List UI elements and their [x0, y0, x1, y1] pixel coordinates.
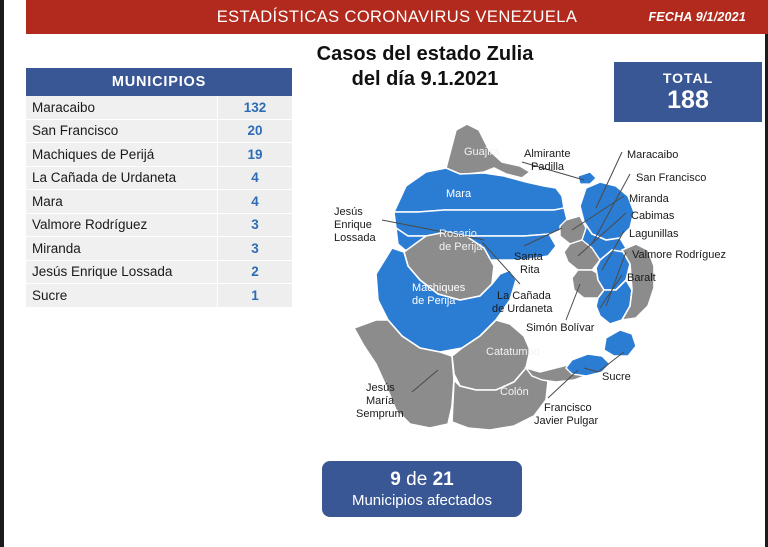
map-callout-label: Padilla — [531, 161, 564, 174]
municipios-table: MUNICIPIOS Maracaibo132San Francisco20Ma… — [26, 68, 292, 308]
municipio-cases: 3 — [218, 237, 292, 260]
table-row: Sucre1 — [26, 284, 292, 308]
map-callout-label: Semprum — [356, 408, 404, 421]
map-region-label: de Perija — [412, 295, 455, 308]
municipio-cases: 1 — [218, 284, 292, 307]
map-callout-label: Rita — [520, 264, 540, 277]
map-region-label: Catatumbo — [486, 346, 540, 359]
poster-root: ESTADÍSTICAS CORONAVIRUS VENEZUELA FECHA… — [0, 0, 768, 547]
zulia-map: GuajiraMaraRosariode PerijaMachiquesde P… — [334, 124, 764, 454]
total-label: TOTAL — [663, 70, 713, 86]
map-callout-label: Maracaibo — [627, 149, 678, 162]
table-row: La Cañada de Urdaneta4 — [26, 167, 292, 191]
municipio-cases: 2 — [218, 261, 292, 284]
municipio-name: Sucre — [26, 284, 218, 307]
municipio-name: San Francisco — [26, 120, 218, 143]
header-date: FECHA 9/1/2021 — [648, 10, 746, 24]
map-region-label: Machiques — [412, 282, 465, 295]
affected-banner: 9 de 21 Municipios afectados — [322, 461, 522, 517]
map-callout-label: María — [366, 395, 394, 408]
header-bar: ESTADÍSTICAS CORONAVIRUS VENEZUELA FECHA… — [26, 0, 768, 34]
map-callout-label: Enrique — [334, 219, 372, 232]
map-callout-label: San Francisco — [636, 172, 706, 185]
page-title: Casos del estado Zulia del día 9.1.2021 — [280, 42, 570, 92]
map-callout-label: Almirante — [524, 148, 570, 161]
total-value: 188 — [667, 86, 709, 115]
municipio-name: Machiques de Perijá — [26, 143, 218, 166]
table-row: Miranda3 — [26, 237, 292, 261]
map-callout-label: Lagunillas — [629, 228, 679, 241]
map-callout-label: Jesús — [334, 206, 363, 219]
map-callout-label: de Urdaneta — [492, 303, 553, 316]
affected-caption: Municipios afectados — [352, 491, 492, 510]
leader-simon-bolivar — [566, 284, 580, 320]
map-callout-label: Simón Bolívar — [526, 322, 594, 335]
table-body: Maracaibo132San Francisco20Machiques de … — [26, 96, 292, 308]
table-row: Machiques de Perijá19 — [26, 143, 292, 167]
map-region-label: Rosario — [439, 228, 477, 241]
affected-count: 9 — [390, 469, 401, 490]
map-region-label: Mara — [446, 188, 471, 201]
map-callout-label: Jesús — [366, 382, 395, 395]
page-title-line1: Casos del estado Zulia — [280, 42, 570, 67]
municipio-cases: 132 — [218, 96, 292, 119]
page-title-line2: del día 9.1.2021 — [280, 67, 570, 92]
affected-count-line: 9 de 21 — [390, 468, 453, 491]
table-row: Mara4 — [26, 190, 292, 214]
map-callout-label: Francisco — [544, 402, 592, 415]
map-callout-label: Javier Pulgar — [534, 415, 598, 428]
municipio-name: Miranda — [26, 237, 218, 260]
municipio-name: La Cañada de Urdaneta — [26, 167, 218, 190]
municipio-cases: 20 — [218, 120, 292, 143]
region-sucre — [604, 330, 636, 356]
region-almirante-padilla — [578, 172, 596, 184]
map-region-label: Colón — [500, 386, 529, 399]
total-box: TOTAL 188 — [614, 62, 762, 122]
region-mara — [394, 168, 564, 212]
table-row: Maracaibo132 — [26, 96, 292, 120]
table-header-municipios: MUNICIPIOS — [26, 68, 292, 96]
map-callout-label: Baralt — [627, 272, 656, 285]
table-row: San Francisco20 — [26, 120, 292, 144]
municipio-cases: 3 — [218, 214, 292, 237]
map-regions — [354, 124, 654, 430]
map-callout-label: Lossada — [334, 232, 376, 245]
table-row: Jesús Enrique Lossada2 — [26, 261, 292, 285]
map-region-label: de Perija — [439, 241, 482, 254]
map-callout-label: Valmore Rodríguez — [632, 249, 726, 262]
municipio-name: Valmore Rodríguez — [26, 214, 218, 237]
map-callout-label: La Cañada — [497, 290, 551, 303]
table-row: Valmore Rodríguez3 — [26, 214, 292, 238]
municipio-cases: 4 — [218, 190, 292, 213]
map-callout-label: Santa — [514, 251, 543, 264]
map-region-label: Guajira — [464, 146, 499, 159]
municipio-name: Mara — [26, 190, 218, 213]
affected-total: 21 — [433, 469, 454, 490]
municipio-name: Jesús Enrique Lossada — [26, 261, 218, 284]
municipio-cases: 19 — [218, 143, 292, 166]
municipio-cases: 4 — [218, 167, 292, 190]
municipio-name: Maracaibo — [26, 96, 218, 119]
map-callout-label: Miranda — [629, 193, 669, 206]
affected-de: de — [406, 469, 427, 490]
region-mara-south — [394, 208, 567, 236]
map-callout-label: Sucre — [602, 371, 631, 384]
map-callout-label: Cabimas — [631, 210, 674, 223]
